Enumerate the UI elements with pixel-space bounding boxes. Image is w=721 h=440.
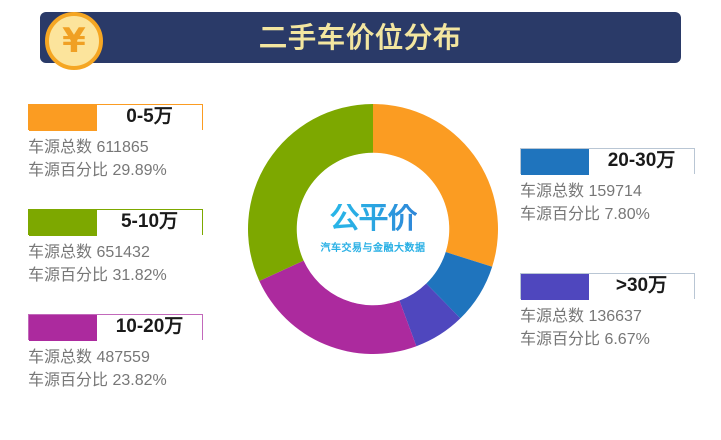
legend-item-over-30: >30万 车源总数 136637 车源百分比 6.67% <box>520 273 720 351</box>
legend-count: 车源总数 611865 <box>28 136 228 159</box>
legend-header: 20-30万 <box>520 148 695 174</box>
legend-color-swatch <box>29 210 97 236</box>
legend-percent: 车源百分比 7.80% <box>520 203 720 226</box>
legend-color-swatch <box>29 105 97 131</box>
legend-count: 车源总数 487559 <box>28 346 228 369</box>
legend-count: 车源总数 651432 <box>28 241 228 264</box>
legend-stats: 车源总数 487559 车源百分比 23.82% <box>28 346 228 392</box>
legend-item-20-30: 20-30万 车源总数 159714 车源百分比 7.80% <box>520 148 720 226</box>
legend-header: >30万 <box>520 273 695 299</box>
legend-color-swatch <box>521 274 589 300</box>
brand-logo-text: 公平价 <box>330 204 417 234</box>
donut-center-logo: 公平价 汽车交易与金融大数据 <box>297 153 449 305</box>
yen-coin-icon: ¥ <box>45 12 103 70</box>
legend-item-10-20: 10-20万 车源总数 487559 车源百分比 23.82% <box>28 314 228 392</box>
brand-tagline: 汽车交易与金融大数据 <box>321 239 426 254</box>
legend-color-swatch <box>29 315 97 341</box>
legend-item-5-10: 5-10万 车源总数 651432 车源百分比 31.82% <box>28 209 228 287</box>
legend-label: 0-5万 <box>97 105 202 131</box>
donut-chart: 公平价 汽车交易与金融大数据 <box>248 104 498 354</box>
legend-item-0-5: 0-5万 车源总数 611865 车源百分比 29.89% <box>28 104 228 182</box>
legend-count: 车源总数 136637 <box>520 305 720 328</box>
page-title: 二手车价位分布 <box>40 12 681 63</box>
legend-percent: 车源百分比 23.82% <box>28 369 228 392</box>
legend-label: 10-20万 <box>97 315 202 341</box>
legend-stats: 车源总数 611865 车源百分比 29.89% <box>28 136 228 182</box>
legend-stats: 车源总数 159714 车源百分比 7.80% <box>520 180 720 226</box>
legend-label: 20-30万 <box>589 149 694 175</box>
legend-header: 10-20万 <box>28 314 203 340</box>
header-bar: 二手车价位分布 <box>40 12 681 63</box>
legend-stats: 车源总数 651432 车源百分比 31.82% <box>28 241 228 287</box>
legend-label: 5-10万 <box>97 210 202 236</box>
legend-header: 0-5万 <box>28 104 203 130</box>
legend-stats: 车源总数 136637 车源百分比 6.67% <box>520 305 720 351</box>
legend-count: 车源总数 159714 <box>520 180 720 203</box>
legend-percent: 车源百分比 31.82% <box>28 264 228 287</box>
legend-percent: 车源百分比 6.67% <box>520 328 720 351</box>
legend-header: 5-10万 <box>28 209 203 235</box>
legend-color-swatch <box>521 149 589 175</box>
yen-symbol: ¥ <box>49 16 99 66</box>
legend-label: >30万 <box>589 274 694 300</box>
legend-percent: 车源百分比 29.89% <box>28 159 228 182</box>
